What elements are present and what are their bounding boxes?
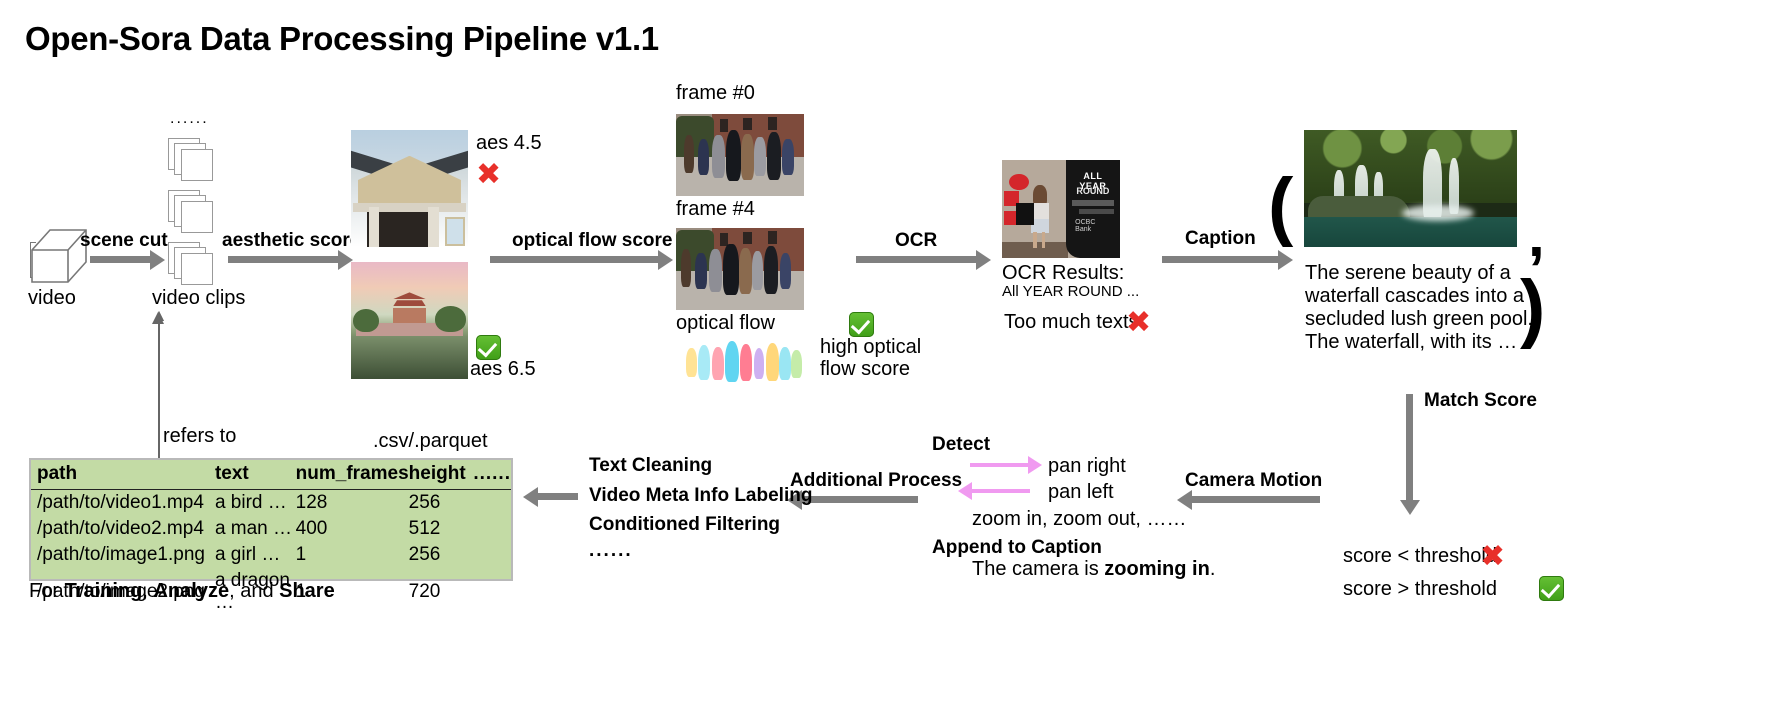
cell-path: /path/to/video1.mp4 <box>31 490 215 517</box>
clips-ellipsis: ...... <box>170 110 209 128</box>
video-clip-stack-1-icon <box>168 242 214 288</box>
ocr-sign-logo: OCBC Bank <box>1075 219 1110 233</box>
arrow-match-score <box>1406 394 1413 502</box>
table-col-num-frames: num_frames <box>296 460 409 490</box>
cell-path: /path/to/image1.png <box>31 542 215 568</box>
image-frame-4 <box>676 228 804 310</box>
stage-label-camera-motion: Camera Motion <box>1185 470 1322 492</box>
ocr-results-title: OCR Results: <box>1002 262 1124 285</box>
table-col-height: height <box>409 460 474 490</box>
stage-label-optical-flow-score: optical flow score <box>512 230 672 252</box>
append-to-caption-title: Append to Caption <box>932 537 1102 559</box>
append-prefix: The camera is <box>972 558 1104 580</box>
arrow-ocr <box>856 256 978 263</box>
cell-num-frames: 400 <box>296 516 409 542</box>
footer-sep2: , and <box>229 580 279 602</box>
zoom-options-label: zoom in, zoom out, …… <box>972 508 1187 531</box>
table-header-row: path text num_frames height ...... <box>31 460 511 490</box>
caption-text-line3: secluded lush green pool. <box>1305 308 1533 331</box>
append-caption-sentence: The camera is zooming in. <box>972 558 1215 581</box>
arrow-aesthetic-score <box>228 256 340 263</box>
frame0-label: frame #0 <box>676 82 755 105</box>
process-item-conditioned-filtering: Conditioned Filtering <box>589 514 780 536</box>
stage-label-caption: Caption <box>1185 228 1256 250</box>
table-row[interactable]: /path/to/video2.mp4 a man … 400 512 <box>31 516 511 542</box>
arrow-pan-left-icon <box>970 489 1030 493</box>
cell-num-frames: 1 <box>296 542 409 568</box>
caption-open-paren: ( <box>1268 168 1293 244</box>
aes-low-score-label: aes 4.5 <box>476 132 542 155</box>
cell-text: a bird … <box>215 490 296 517</box>
caption-comma: , <box>1528 206 1545 266</box>
match-above-label: score > threshold <box>1343 578 1497 601</box>
table-col-more: ...... <box>473 460 511 490</box>
arrow-optical-flow-score <box>490 256 660 263</box>
process-item-text-cleaning: Text Cleaning <box>589 455 712 477</box>
table-col-path: path <box>31 460 215 490</box>
arrow-scene-cut <box>90 256 152 263</box>
image-waterfall <box>1304 130 1517 247</box>
aes-low-x-icon: ✖ <box>476 160 501 190</box>
video-label: video <box>28 287 76 310</box>
image-ocr-sample: ALL YEAR ROUND OCBC Bank <box>1002 160 1120 258</box>
caption-text-line1: The serene beauty of a <box>1305 262 1511 285</box>
ocr-verdict-label: Too much texts <box>1004 311 1139 334</box>
cell-path: /path/to/video2.mp4 <box>31 516 215 542</box>
arrow-caption <box>1162 256 1280 263</box>
pan-right-label: pan right <box>1048 455 1126 478</box>
footer-sep1: , <box>142 580 153 602</box>
process-item-meta-labeling: Video Meta Info Labeling <box>589 485 812 507</box>
optical-flow-result-line1: high optical <box>820 336 921 359</box>
stage-label-ocr: OCR <box>895 230 937 252</box>
video-clips-label: video clips <box>152 287 245 310</box>
video-cube-icon <box>30 228 86 290</box>
cell-more <box>473 516 511 542</box>
image-high-aesthetic <box>351 262 468 379</box>
cell-height: 720 <box>409 568 474 616</box>
caption-text-line4: The waterfall, with its … <box>1305 331 1517 354</box>
page-title: Open-Sora Data Processing Pipeline v1.1 <box>25 20 659 58</box>
arrow-to-table <box>536 493 578 500</box>
footer-share: Share <box>279 580 335 602</box>
caption-text-line2: waterfall cascades into a <box>1305 285 1524 308</box>
aes-high-score-label: aes 6.5 <box>470 358 536 381</box>
refers-to-label: refers to <box>163 425 236 448</box>
video-clip-stack-3-icon <box>168 138 214 184</box>
arrow-pan-right-icon <box>970 463 1030 467</box>
footer-text: For Training, Analyze, and Share <box>29 580 335 603</box>
match-below-x-icon: ✖ <box>1480 542 1505 572</box>
ocr-verdict-x-icon: ✖ <box>1126 308 1151 338</box>
footer-training: Training <box>65 580 143 602</box>
match-below-label: score < threshold <box>1343 545 1497 568</box>
caption-close-paren: ) <box>1520 270 1545 346</box>
stage-label-match-score: Match Score <box>1424 390 1537 412</box>
cell-height: 512 <box>409 516 474 542</box>
footer-analyze: Analyze <box>153 580 229 602</box>
cell-text: a girl … <box>215 542 296 568</box>
arrow-additional-process <box>800 496 918 503</box>
frame4-label: frame #4 <box>676 198 755 221</box>
cell-more <box>473 490 511 517</box>
refers-to-arrowhead-icon <box>150 312 170 332</box>
match-above-check-icon <box>1539 576 1564 601</box>
append-bold: zooming in <box>1104 558 1210 580</box>
cell-height: 256 <box>409 490 474 517</box>
cell-more <box>473 568 511 616</box>
detect-title: Detect <box>932 434 990 456</box>
image-frame-0 <box>676 114 804 196</box>
pan-left-label: pan left <box>1048 481 1114 504</box>
aes-high-check-icon <box>476 335 501 360</box>
footer-prefix: For <box>29 580 65 602</box>
table-row[interactable]: /path/to/video1.mp4 a bird … 128 256 <box>31 490 511 517</box>
append-suffix: . <box>1210 558 1216 580</box>
stage-label-additional-process: Additional Process <box>790 470 962 492</box>
cell-num-frames: 128 <box>296 490 409 517</box>
optical-flow-label: optical flow <box>676 312 775 335</box>
video-clip-stack-2-icon <box>168 190 214 236</box>
optical-flow-check-icon <box>849 312 874 337</box>
image-optical-flow <box>684 336 804 384</box>
table-row[interactable]: /path/to/image1.png a girl … 1 256 <box>31 542 511 568</box>
metadata-table[interactable]: path text num_frames height ...... /path… <box>29 458 513 581</box>
image-low-aesthetic <box>351 130 468 247</box>
ocr-sign-line2: ROUND <box>1070 186 1115 196</box>
cell-more <box>473 542 511 568</box>
ocr-results-text: All YEAR ROUND ... <box>1002 283 1139 300</box>
file-format-label: .csv/.parquet <box>373 430 488 453</box>
optical-flow-result-line2: flow score <box>820 358 910 381</box>
cell-text: a man … <box>215 516 296 542</box>
cell-height: 256 <box>409 542 474 568</box>
process-item-ellipsis: ...... <box>589 540 633 562</box>
table-col-text: text <box>215 460 296 490</box>
arrow-camera-motion <box>1190 496 1320 503</box>
